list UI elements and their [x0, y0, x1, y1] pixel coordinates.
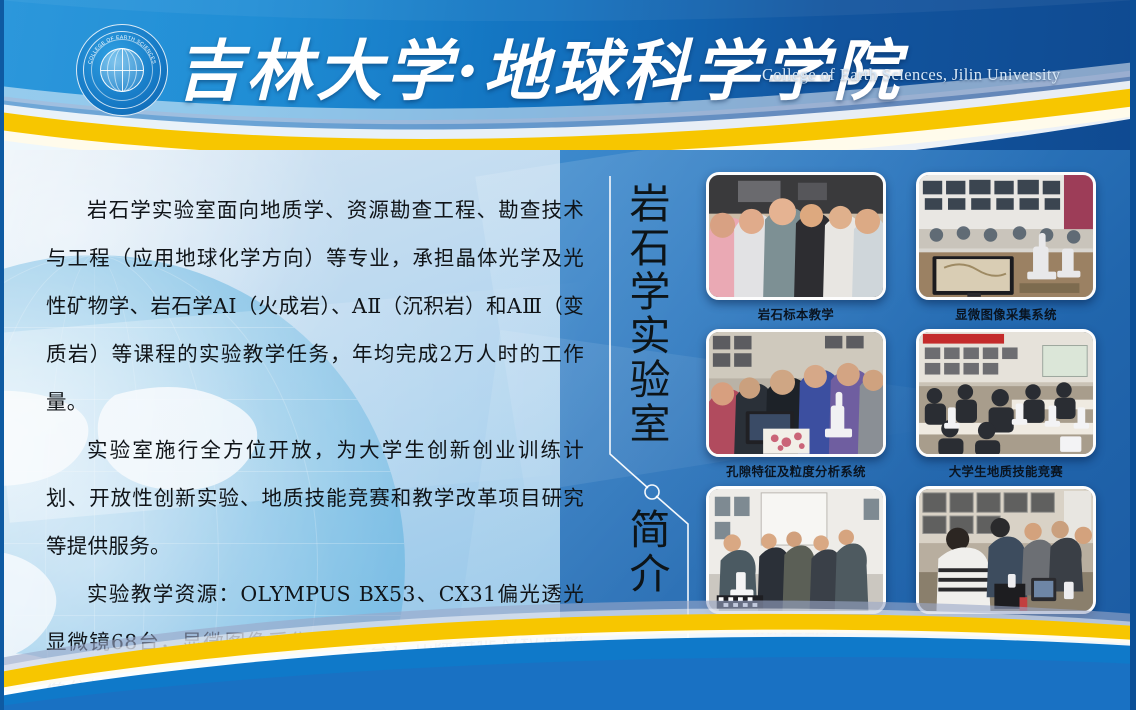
photo-caption: 显微图像采集系统 — [916, 305, 1096, 323]
intro-paragraph-1: 岩石学实验室面向地质学、资源勘查工程、勘查技术与工程（应用地球化学方向）等专业，… — [46, 186, 584, 426]
photo-caption: 校领导莅临指导 — [706, 619, 886, 637]
seal-ellipse-b — [114, 48, 130, 92]
photo-card[interactable]: 校领导莅临指导 — [706, 486, 886, 637]
intro-paragraph-3: 实验教学资源：OLYMPUS BX53、CX31偏光透光显微镜68台，显微图像采… — [46, 570, 584, 710]
photo-foreign-students-exchange — [919, 489, 1093, 613]
photo-card[interactable]: 外国大学生参观交流 — [916, 486, 1096, 637]
photo-caption: 大学生地质技能竞赛 — [916, 462, 1096, 480]
page-title-cn: 吉林大学·地球科学学院 — [176, 28, 766, 114]
photo-card[interactable]: 大学生地质技能竞赛 — [916, 329, 1096, 480]
photo-thumbnail[interactable] — [916, 172, 1096, 300]
photo-caption: 岩石标本教学 — [706, 305, 886, 323]
left-edge-border — [0, 0, 4, 710]
photo-grid: 岩石标本教学 — [706, 172, 1096, 650]
intro-body-text: 岩石学实验室面向地质学、资源勘查工程、勘查技术与工程（应用地球化学方向）等专业，… — [46, 186, 584, 710]
vertical-title-block: 岩石学实验室 简介 — [596, 172, 702, 642]
photo-caption: 外国大学生参观交流 — [916, 619, 1096, 637]
photo-caption: 孔隙特征及粒度分析系统 — [706, 462, 886, 480]
page-title-en: College of Earth Sciences, Jilin Univers… — [762, 65, 1061, 85]
right-edge-border — [1130, 0, 1136, 710]
photo-geology-skills-competition — [919, 332, 1093, 456]
photo-rock-specimen-teaching — [709, 175, 883, 299]
photo-thumbnail[interactable] — [916, 329, 1096, 457]
header-banner: COLLEGE OF EARTH SCIENCES 吉林大学·地球科学学院 Co… — [0, 0, 1136, 150]
photo-thumbnail[interactable] — [706, 329, 886, 457]
college-seal-icon: COLLEGE OF EARTH SCIENCES — [76, 24, 168, 116]
poster-root: COLLEGE OF EARTH SCIENCES 吉林大学·地球科学学院 Co… — [0, 0, 1136, 710]
photo-pore-and-grain-analysis-system — [709, 332, 883, 456]
photo-thumbnail[interactable] — [916, 486, 1096, 614]
photo-thumbnail[interactable] — [706, 172, 886, 300]
photo-thumbnail[interactable] — [706, 486, 886, 614]
vertical-title-sub: 简介 — [622, 508, 670, 596]
photo-card[interactable]: 岩石标本教学 — [706, 172, 886, 323]
photo-microscope-imaging-system — [919, 175, 1093, 299]
photo-card[interactable]: 孔隙特征及粒度分析系统 — [706, 329, 886, 480]
vertical-title-main: 岩石学实验室 — [622, 182, 670, 446]
photo-leaders-visit-guidance — [709, 489, 883, 613]
photo-card[interactable]: 显微图像采集系统 — [916, 172, 1096, 323]
intro-paragraph-2: 实验室施行全方位开放，为大学生创新创业训练计划、开放性创新实验、地质技能竞赛和教… — [46, 426, 584, 570]
vertical-title-circle-icon — [645, 485, 659, 499]
